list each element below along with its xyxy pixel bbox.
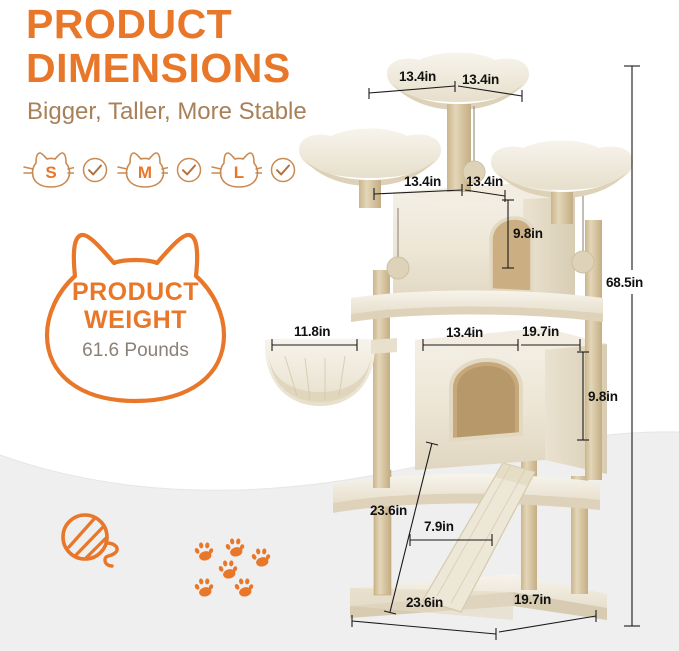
title-line-2: DIMENSIONS — [26, 46, 291, 90]
product-image-cat-tree — [255, 40, 655, 645]
yarn-ball-icon — [58, 512, 140, 575]
page-title: PRODUCT DIMENSIONS — [26, 2, 291, 90]
size-badge-l: L — [210, 150, 297, 190]
size-badge-row: S M — [22, 150, 297, 190]
size-badge-label: S — [45, 163, 56, 182]
cat-head-outline-icon — [28, 228, 243, 408]
size-badge-label: M — [138, 163, 152, 182]
check-circle-icon — [175, 156, 203, 184]
infographic-canvas: PRODUCT DIMENSIONS Bigger, Taller, More … — [0, 0, 679, 651]
paw-print-group — [192, 538, 282, 605]
cat-head-icon: M — [116, 150, 168, 190]
size-badge-label: L — [234, 163, 244, 182]
cat-head-icon: S — [22, 150, 74, 190]
cat-head-icon: L — [210, 150, 262, 190]
subtitle: Bigger, Taller, More Stable — [27, 98, 307, 126]
title-line-1: PRODUCT — [26, 2, 291, 46]
size-badge-m: M — [116, 150, 203, 190]
product-weight-card: PRODUCT WEIGHT 61.6 Pounds — [28, 228, 243, 408]
size-badge-s: S — [22, 150, 109, 190]
check-circle-icon — [269, 156, 297, 184]
check-circle-icon — [81, 156, 109, 184]
